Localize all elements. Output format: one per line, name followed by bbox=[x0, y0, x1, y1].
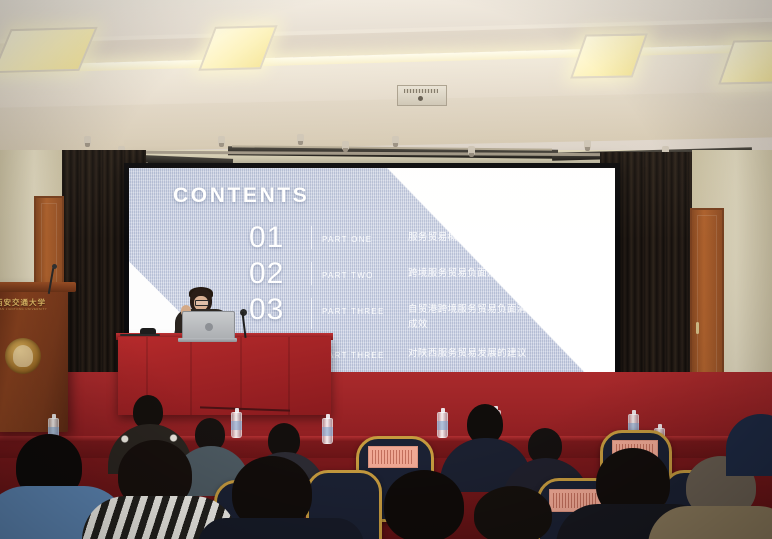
track-spotlight bbox=[584, 140, 591, 149]
door-panel-right bbox=[697, 215, 717, 397]
lecture-hall-photo: CONTENTS 01 PART ONE 服务贸易概念及开放模式 02 PART… bbox=[0, 0, 772, 539]
toc-number: 02 bbox=[249, 258, 311, 289]
chair-name-card bbox=[368, 446, 418, 468]
toc-row: 02 PART TWO 跨境服务贸易负面清单特点及主要内容 bbox=[249, 258, 609, 289]
toc-row: 01 PART ONE 服务贸易概念及开放模式 bbox=[249, 222, 609, 253]
toc-description: 跨境服务贸易负面清单特点及主要内容 bbox=[408, 258, 609, 282]
speaker-glasses bbox=[195, 300, 209, 306]
toc-part-label: PART ONE bbox=[322, 222, 408, 244]
door-handle[interactable] bbox=[696, 322, 699, 334]
slide-heading: CONTENTS bbox=[173, 184, 309, 208]
toc-number: 01 bbox=[249, 222, 311, 253]
water-bottle bbox=[322, 418, 333, 444]
water-bottle bbox=[437, 412, 448, 438]
track-spotlight bbox=[468, 146, 475, 155]
track-spotlight bbox=[342, 141, 349, 150]
laptop-logo bbox=[205, 323, 213, 331]
table-cable bbox=[120, 334, 160, 336]
audience-head-foreground bbox=[384, 470, 464, 539]
toc-row: 03 PART THREE 自贸港跨境服务贸易负面清单落地实施举措及成效 bbox=[249, 294, 609, 332]
track-spotlight bbox=[392, 136, 399, 145]
toc-divider bbox=[311, 226, 312, 249]
track-spotlight bbox=[218, 136, 225, 145]
podium-top-surface bbox=[0, 282, 76, 292]
drape-fold bbox=[240, 337, 242, 415]
ceiling-sensor-grille bbox=[404, 89, 438, 93]
audience-head-foreground bbox=[474, 486, 552, 539]
ceiling-sensor-led bbox=[418, 96, 423, 101]
podium-mic-head bbox=[52, 264, 57, 269]
university-emblem bbox=[5, 338, 41, 374]
laptop-base bbox=[178, 338, 237, 342]
stage-backdrop-skirt bbox=[0, 372, 772, 436]
track-spotlight bbox=[297, 134, 304, 143]
audience-shoulders-foreground bbox=[648, 506, 772, 539]
bottle-label bbox=[437, 421, 448, 430]
toc-divider bbox=[311, 298, 312, 328]
podium-brand-en: XI'AN JIAOTONG UNIVERSITY bbox=[0, 307, 47, 311]
audience-shoulders-foreground bbox=[198, 518, 364, 539]
toc-description: 自贸港跨境服务贸易负面清单落地实施举措及成效 bbox=[408, 294, 609, 332]
toc-description: 服务贸易概念及开放模式 bbox=[408, 222, 609, 246]
drape-fold bbox=[190, 337, 192, 415]
speaker-podium: 西安交通大学 XI'AN JIAOTONG UNIVERSITY bbox=[0, 286, 68, 432]
drape-fold bbox=[288, 337, 290, 415]
toc-part-label: PART TWO bbox=[322, 258, 408, 280]
bottle-label bbox=[231, 421, 242, 430]
water-bottle bbox=[231, 412, 242, 438]
toc-number: 03 bbox=[249, 294, 311, 325]
bottle-label bbox=[322, 427, 333, 436]
toc-part-label: PART THREE bbox=[322, 294, 408, 316]
toc-part-label: PART THREE bbox=[322, 338, 408, 360]
toc-description: 对陕西服务贸易发展的建议 bbox=[408, 338, 609, 362]
toc-divider bbox=[311, 262, 312, 285]
track-spotlight bbox=[84, 136, 91, 145]
